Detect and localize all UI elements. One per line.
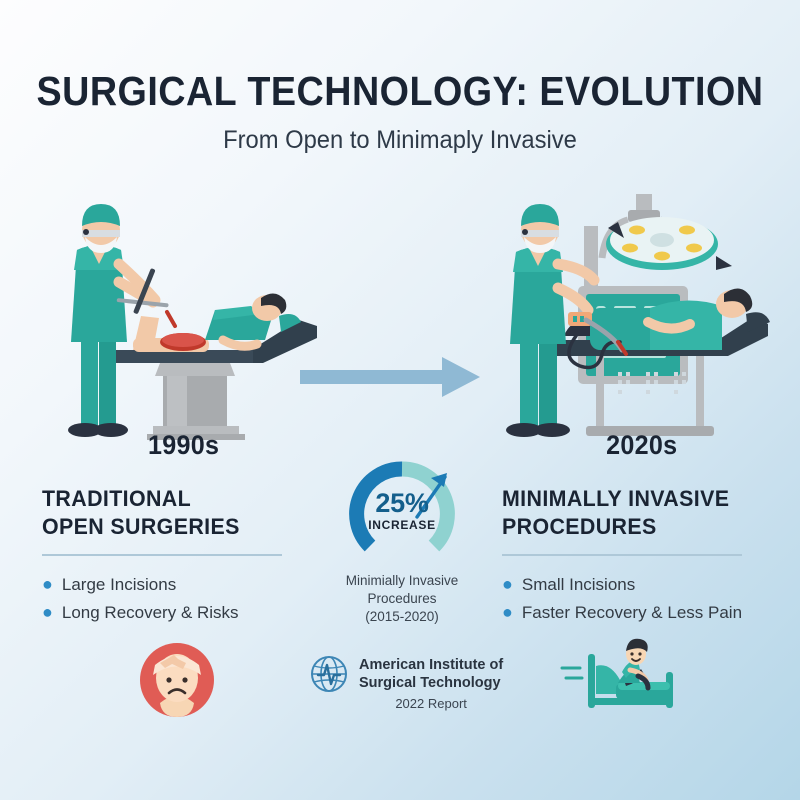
statistic-block: 25% INCREASE Minimially Invasive Procedu… (327, 455, 477, 626)
category-line2-right: PROCEDURES (502, 513, 787, 541)
decade-label-left: 1990s (53, 430, 332, 461)
stat-caption-line3: (2015-2020) (327, 608, 477, 626)
bullet-text: Small Incisions (522, 571, 635, 599)
category-line1-right: MINIMALLY INVASIVE (502, 485, 787, 513)
footer-branding: American Institute of Surgical Technolog… (310, 655, 503, 711)
bandaged-sad-face-icon (138, 641, 216, 719)
evolution-arrow-icon (296, 352, 486, 402)
bullet-text: Long Recovery & Risks (62, 599, 239, 627)
divider-right (502, 554, 742, 556)
infographic-canvas: SURGICAL TECHNOLOGY: EVOLUTION From Open… (0, 0, 800, 800)
list-item: ● Faster Recovery & Less Pain (502, 599, 800, 627)
surgical-lamp-icon (602, 194, 732, 270)
report-year: 2022 Report (359, 696, 503, 711)
bullet-dot-icon: ● (502, 603, 513, 621)
globe-heartbeat-logo (310, 655, 348, 693)
increase-gauge-chart: 25% INCREASE (343, 455, 461, 565)
bullet-dot-icon: ● (42, 575, 53, 593)
org-name-line1: American Institute of (359, 657, 503, 675)
panel-2020s: 2020s MINIMALLY INVASIVE PROCEDURES ● Sm… (502, 430, 800, 626)
category-line1-left: TRADITIONAL (42, 485, 327, 513)
bullet-text: Faster Recovery & Less Pain (522, 599, 742, 627)
category-title-right: MINIMALLY INVASIVE PROCEDURES (502, 485, 787, 540)
panel-1990s: 1990s TRADITIONAL OPEN SURGERIES ● Large… (42, 430, 342, 626)
category-title-left: TRADITIONAL OPEN SURGERIES (42, 485, 327, 540)
motion-lines-icon (562, 668, 582, 678)
stat-caption-line2: Procedures (327, 590, 477, 608)
footer-text: American Institute of Surgical Technolog… (359, 655, 503, 711)
surgeon-figure (68, 204, 175, 437)
recovering-patient-bed-icon (560, 636, 684, 716)
page-title: SURGICAL TECHNOLOGY: EVOLUTION (32, 68, 768, 115)
bullet-text: Large Incisions (62, 571, 176, 599)
bullet-list-right: ● Small Incisions ● Faster Recovery & Le… (502, 571, 800, 626)
bullet-list-left: ● Large Incisions ● Long Recovery & Risk… (42, 571, 342, 626)
stat-caption: Minimially Invasive Procedures (2015-202… (327, 572, 477, 626)
bullet-dot-icon: ● (502, 575, 513, 593)
divider-left (42, 554, 282, 556)
category-line2-left: OPEN SURGERIES (42, 513, 327, 541)
open-surgery-illustration (55, 190, 345, 440)
list-item: ● Long Recovery & Risks (42, 599, 342, 627)
list-item: ● Large Incisions (42, 571, 342, 599)
stat-caption-line1: Minimially Invasive (327, 572, 477, 590)
org-name-line2: Surgical Technology (359, 675, 503, 693)
bullet-dot-icon: ● (42, 603, 53, 621)
page-subtitle: From Open to Minimaply Invasive (20, 126, 780, 155)
laparoscopic-surgery-illustration (490, 190, 790, 440)
list-item: ● Small Incisions (502, 571, 800, 599)
patient-sitting-figure (618, 639, 648, 688)
header: SURGICAL TECHNOLOGY: EVOLUTION From Open… (0, 68, 800, 155)
gauge-label: INCREASE (343, 518, 461, 532)
gauge-value: 25% (343, 488, 461, 519)
decade-label-right: 2020s (513, 430, 792, 461)
